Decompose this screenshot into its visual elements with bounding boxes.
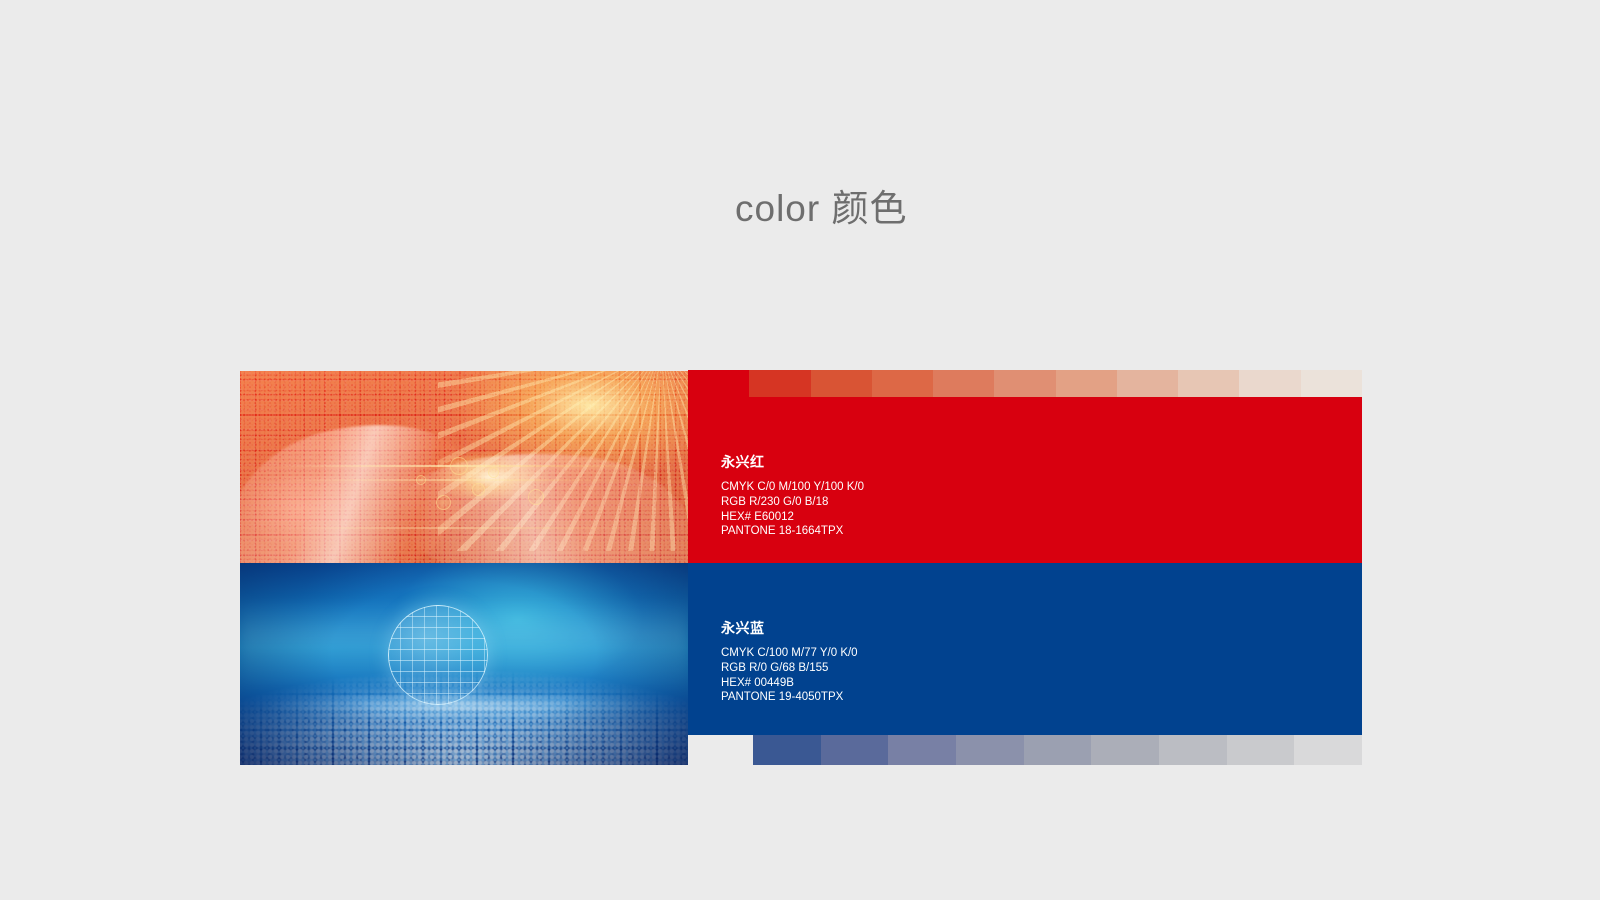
blue-swatch-specs: CMYK C/100 M/77 Y/0 K/0RGB R/0 G/68 B/15… — [721, 646, 1362, 705]
red-color-swatch-block: 永兴红 CMYK C/0 M/100 Y/100 K/0RGB R/230 G/… — [688, 397, 1362, 563]
red-tint-swatch — [1239, 370, 1300, 397]
blue-color-swatch-block: 永兴蓝 CMYK C/100 M/77 Y/0 K/0RGB R/0 G/68 … — [688, 563, 1362, 735]
spec-line: PANTONE 18-1664TPX — [721, 524, 1362, 539]
blue-tint-swatch — [956, 735, 1024, 765]
bokeh-circle — [528, 489, 544, 505]
red-tint-swatch — [933, 370, 994, 397]
red-tint-swatch — [1178, 370, 1239, 397]
red-tint-swatch — [811, 370, 872, 397]
bokeh-circle — [472, 483, 485, 496]
spec-line: HEX# E60012 — [721, 510, 1362, 525]
blue-tint-swatch — [1091, 735, 1159, 765]
blue-tint-swatch — [1024, 735, 1092, 765]
bokeh-circle — [416, 475, 426, 485]
bokeh-circle — [436, 495, 451, 510]
blue-tint-swatch — [1294, 735, 1362, 765]
bokeh-circle — [450, 457, 468, 475]
red-tint-swatch — [1056, 370, 1117, 397]
blue-tint-swatch — [1159, 735, 1227, 765]
red-tint-strip — [688, 370, 1362, 397]
blue-tint-strip — [753, 735, 1362, 765]
spec-line: HEX# 00449B — [721, 676, 1362, 691]
red-swatch-specs: CMYK C/0 M/100 Y/100 K/0RGB R/230 G/0 B/… — [721, 480, 1362, 539]
spec-line: CMYK C/0 M/100 Y/100 K/0 — [721, 480, 1362, 495]
blue-brand-image — [240, 563, 688, 765]
bokeh-circle — [488, 467, 499, 478]
blue-tint-swatch — [753, 735, 821, 765]
red-tint-swatch — [872, 370, 933, 397]
red-tint-swatch — [688, 370, 749, 397]
red-swatch-name: 永兴红 — [721, 455, 1362, 469]
blue-globe-artwork — [240, 563, 688, 765]
spec-line: CMYK C/100 M/77 Y/0 K/0 — [721, 646, 1362, 661]
red-tint-swatch — [994, 370, 1055, 397]
blue-tint-swatch — [1227, 735, 1295, 765]
vignette-overlay — [240, 563, 688, 765]
red-tint-swatch — [749, 370, 810, 397]
spec-line: RGB R/230 G/0 B/18 — [721, 495, 1362, 510]
blue-tint-swatch — [821, 735, 889, 765]
page-title: color 颜色 — [735, 178, 907, 232]
blue-tint-swatch — [888, 735, 956, 765]
spec-line: PANTONE 19-4050TPX — [721, 690, 1362, 705]
red-tint-swatch — [1117, 370, 1178, 397]
red-tint-swatch — [1301, 370, 1362, 397]
blue-swatch-name: 永兴蓝 — [721, 621, 1362, 635]
spec-line: RGB R/0 G/68 B/155 — [721, 661, 1362, 676]
red-brand-image — [240, 371, 688, 563]
red-silk-artwork — [240, 371, 688, 563]
color-board: 永兴红 CMYK C/0 M/100 Y/100 K/0RGB R/230 G/… — [240, 370, 1362, 765]
